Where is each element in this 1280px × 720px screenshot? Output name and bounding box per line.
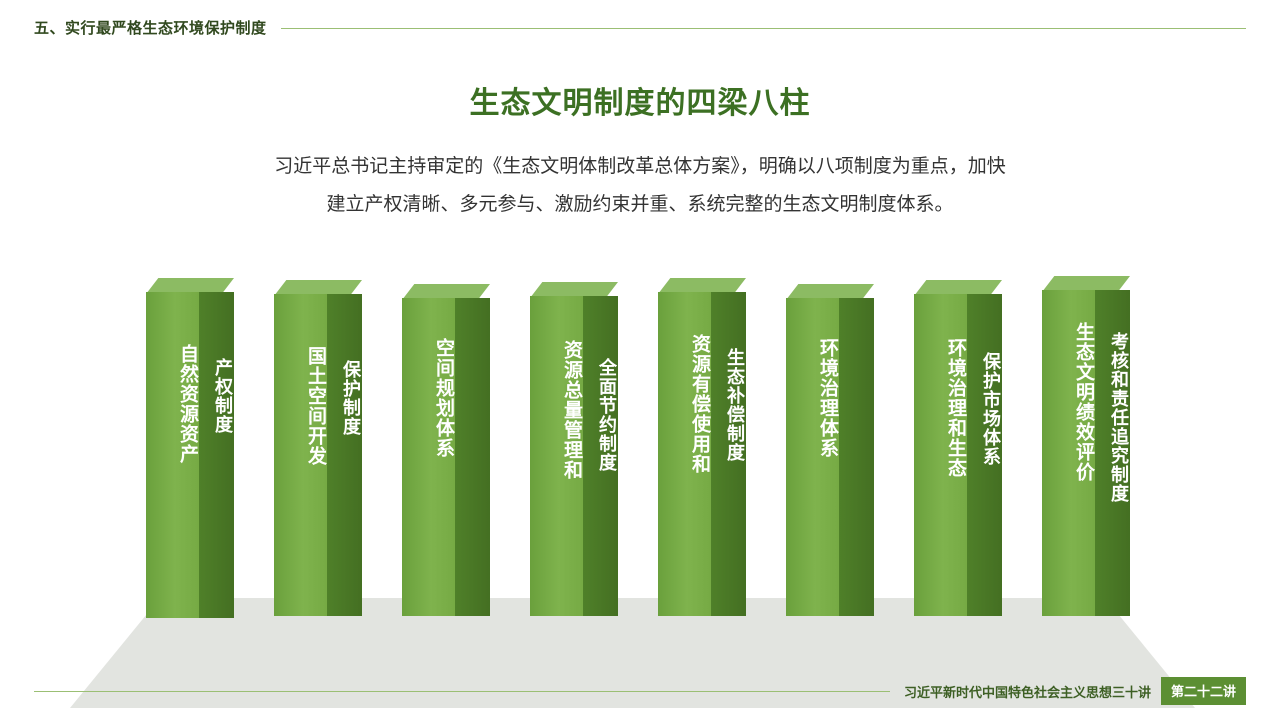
footer-divider <box>34 691 890 692</box>
pillar-1-side-label: 产权制度 <box>199 358 234 434</box>
pillar-front-face: 国土空间开发 <box>274 294 327 616</box>
pillar-3: 空间规划体系 <box>402 284 490 616</box>
pillar-body: 国土空间开发 保护制度 <box>274 294 362 616</box>
pillar-side-face: 产权制度 <box>199 292 234 618</box>
slide-header: 五、实行最严格生态环境保护制度 <box>34 16 1246 38</box>
footer-series-text: 习近平新时代中国特色社会主义思想三十讲 <box>904 682 1151 701</box>
pillar-side-face: 生态补偿制度 <box>711 292 746 616</box>
pillar-5-front-label: 资源有偿使用和 <box>658 334 711 474</box>
pillar-1-front-label: 自然资源资产 <box>146 344 199 464</box>
pillar-side-face: 保护市场体系 <box>967 294 1002 616</box>
pillar-8-front-label: 生态文明绩效评价 <box>1042 322 1095 482</box>
pillar-8-side-label: 考核和责任追究制度 <box>1095 332 1130 503</box>
pillar-front-face: 资源有偿使用和 <box>658 292 711 616</box>
pillar-front-face: 资源总量管理和 <box>530 296 583 616</box>
pillar-1: 自然资源资产 产权制度 <box>146 278 234 618</box>
pillar-side-face: 全面节约制度 <box>583 296 618 616</box>
pillar-2-side-label: 保护制度 <box>327 360 362 436</box>
pillar-group: 自然资源资产 产权制度 国土空间开发 保护制度 <box>0 268 1280 668</box>
pillar-body: 自然资源资产 产权制度 <box>146 292 234 618</box>
paragraph-line-1: 习近平总书记主持审定的《生态文明体制改革总体方案》，明确以八项制度为重点，加快 <box>160 148 1120 186</box>
pillar-front-face: 环境治理体系 <box>786 298 839 616</box>
pillar-5-side-label: 生态补偿制度 <box>711 348 746 462</box>
pillar-7: 环境治理和生态 保护市场体系 <box>914 280 1002 616</box>
slide-footer: 习近平新时代中国特色社会主义思想三十讲 第二十二讲 <box>34 678 1246 704</box>
pillar-front-face: 自然资源资产 <box>146 292 199 618</box>
pillars-diagram: 自然资源资产 产权制度 国土空间开发 保护制度 <box>0 268 1280 668</box>
pillar-body: 环境治理体系 <box>786 298 874 616</box>
pillar-side-face <box>455 298 490 616</box>
pillar-body: 资源有偿使用和 生态补偿制度 <box>658 292 746 616</box>
pillar-6: 环境治理体系 <box>786 284 874 616</box>
pillar-4-side-label: 全面节约制度 <box>583 358 618 472</box>
pillar-2: 国土空间开发 保护制度 <box>274 280 362 616</box>
pillar-5: 资源有偿使用和 生态补偿制度 <box>658 278 746 616</box>
pillar-2-front-label: 国土空间开发 <box>274 346 327 466</box>
pillar-body: 环境治理和生态 保护市场体系 <box>914 294 1002 616</box>
pillar-front-face: 环境治理和生态 <box>914 294 967 616</box>
pillar-side-face: 考核和责任追究制度 <box>1095 290 1130 616</box>
pillar-front-face: 空间规划体系 <box>402 298 455 616</box>
body-paragraph: 习近平总书记主持审定的《生态文明体制改革总体方案》，明确以八项制度为重点，加快 … <box>160 148 1120 224</box>
pillar-3-front-label: 空间规划体系 <box>402 338 455 458</box>
header-divider <box>281 28 1246 29</box>
pillar-4-front-label: 资源总量管理和 <box>530 340 583 480</box>
section-title: 五、实行最严格生态环境保护制度 <box>34 17 267 38</box>
pillar-side-face: 保护制度 <box>327 294 362 616</box>
pillar-body: 资源总量管理和 全面节约制度 <box>530 296 618 616</box>
pillar-side-face <box>839 298 874 616</box>
page-title: 生态文明制度的四梁八柱 <box>0 78 1280 122</box>
footer-lecture-badge: 第二十二讲 <box>1161 677 1246 705</box>
pillar-body: 生态文明绩效评价 考核和责任追究制度 <box>1042 290 1130 616</box>
pillar-7-side-label: 保护市场体系 <box>967 352 1002 466</box>
pillar-6-front-label: 环境治理体系 <box>786 338 839 458</box>
pillar-4: 资源总量管理和 全面节约制度 <box>530 282 618 616</box>
paragraph-line-2: 建立产权清晰、多元参与、激励约束并重、系统完整的生态文明制度体系。 <box>160 186 1120 224</box>
pillar-body: 空间规划体系 <box>402 298 490 616</box>
pillar-7-front-label: 环境治理和生态 <box>914 338 967 478</box>
pillar-front-face: 生态文明绩效评价 <box>1042 290 1095 616</box>
pillar-8: 生态文明绩效评价 考核和责任追究制度 <box>1042 276 1130 616</box>
